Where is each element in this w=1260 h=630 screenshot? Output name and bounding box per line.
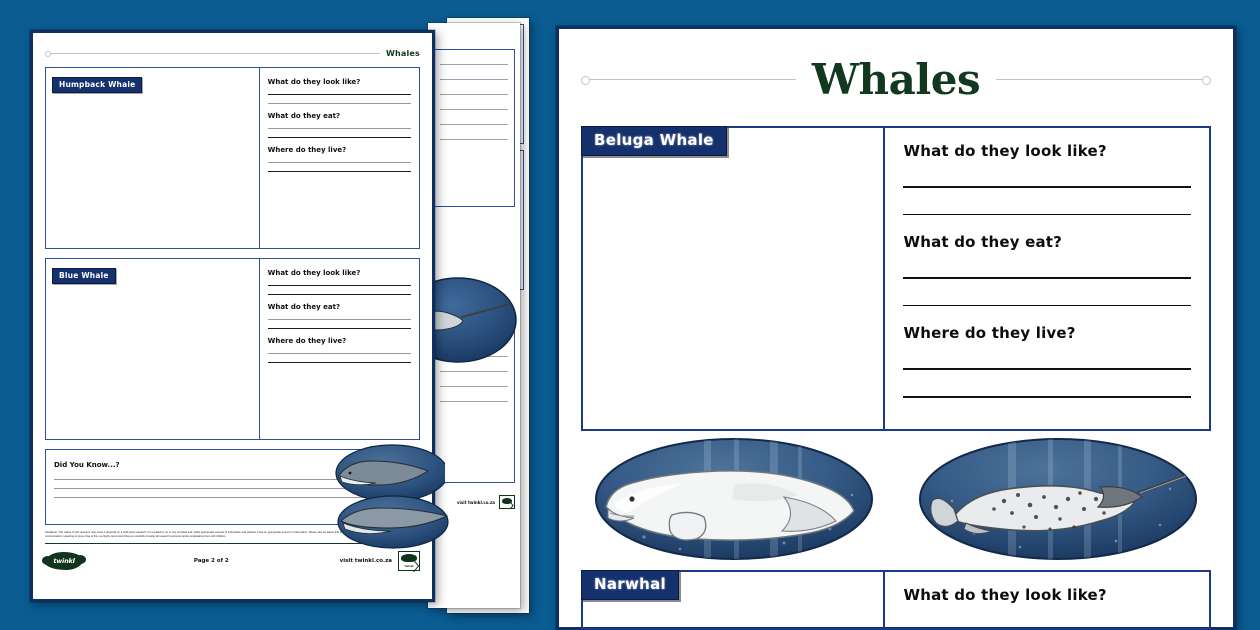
page-title: Whales — [812, 55, 980, 104]
page-number: Page 2 of 2 — [194, 558, 229, 564]
left-page-footer: twinkl Page 2 of 2 visit twinkl.co.za tw… — [45, 548, 420, 574]
answer-line[interactable] — [268, 362, 411, 363]
answer-line[interactable] — [268, 162, 411, 163]
eco-badge-icon: twinkl — [398, 551, 420, 571]
right-page-header: Whales — [581, 55, 1211, 104]
header-rule-left — [45, 53, 380, 54]
species-label-beluga: Beluga Whale — [581, 126, 727, 156]
visit-url-text[interactable]: visit twinkl.co.za — [340, 558, 392, 564]
twinkl-logo[interactable]: twinkl — [45, 552, 83, 570]
question-label: Where do they live? — [268, 337, 411, 345]
answer-line[interactable] — [268, 94, 411, 95]
left-page-header: Whales — [45, 45, 420, 61]
answers-area-narwhal[interactable]: What do they look like? — [883, 572, 1209, 628]
left-page-title: Whales — [386, 49, 420, 58]
narwhal-illustration-small — [418, 268, 533, 373]
answer-line[interactable] — [903, 368, 1191, 370]
species-label-narwhal: Narwhal — [581, 570, 679, 600]
illustration-row — [581, 437, 1211, 562]
answer-line[interactable] — [268, 285, 411, 286]
blue-whale-illustration-small — [337, 495, 449, 550]
answer-line[interactable] — [268, 137, 411, 138]
left-document-preview[interactable]: visit twinkl.co.za — [0, 0, 540, 630]
question-label: Where do they live? — [268, 146, 411, 154]
eco-badge-icon — [499, 495, 515, 509]
twinkl-logo-text: twinkl — [45, 552, 83, 570]
answer-line[interactable] — [268, 103, 411, 104]
answer-line[interactable] — [268, 353, 411, 354]
question-label: What do they eat? — [268, 112, 411, 120]
answers-area-humpback[interactable]: What do they look like? What do they eat… — [259, 68, 419, 248]
right-worksheet-page[interactable]: Whales Beluga Whale What do they look li… — [556, 26, 1236, 630]
answers-area-beluga[interactable]: What do they look like? What do they eat… — [883, 128, 1209, 429]
drawing-area-humpback[interactable]: Humpback Whale — [46, 68, 259, 248]
answer-line[interactable] — [268, 294, 411, 295]
answer-line[interactable] — [903, 396, 1191, 398]
species-block-beluga[interactable]: Beluga Whale What do they look like? Wha… — [581, 126, 1211, 431]
species-label-blue-whale: Blue Whale — [52, 268, 116, 284]
title-rule-left — [581, 79, 796, 81]
answer-line[interactable] — [268, 128, 411, 129]
answer-line[interactable] — [268, 328, 411, 329]
answer-line[interactable] — [268, 171, 411, 172]
answers-area-blue-whale[interactable]: What do they look like? What do they eat… — [259, 259, 419, 439]
answer-line[interactable] — [268, 319, 411, 320]
species-block-blue-whale[interactable]: Blue Whale What do they look like? What … — [45, 258, 420, 440]
species-block-narwhal[interactable]: Narwhal What do they look like? — [581, 570, 1211, 630]
stacked-visit-text: visit twinkl.co.za — [457, 500, 495, 505]
question-label: What do they look like? — [268, 78, 411, 86]
narwhal-illustration — [905, 437, 1211, 562]
drawing-area-blue-whale[interactable]: Blue Whale — [46, 259, 259, 439]
title-rule-right — [996, 79, 1211, 81]
answer-line[interactable] — [903, 277, 1191, 279]
question-label: What do they look like? — [268, 269, 411, 277]
species-label-humpback: Humpback Whale — [52, 77, 142, 93]
species-block-humpback[interactable]: Humpback Whale What do they look like? W… — [45, 67, 420, 249]
question-label: What do they eat? — [903, 233, 1191, 251]
beluga-whale-illustration — [581, 437, 887, 562]
drawing-area-beluga[interactable]: Beluga Whale — [583, 128, 883, 429]
drawing-area-narwhal[interactable]: Narwhal — [583, 572, 883, 628]
question-label: Where do they live? — [903, 324, 1191, 342]
question-label: What do they look like? — [903, 142, 1191, 160]
question-label: What do they eat? — [268, 303, 411, 311]
answer-line[interactable] — [903, 186, 1191, 188]
question-label: What do they look like? — [903, 586, 1191, 604]
